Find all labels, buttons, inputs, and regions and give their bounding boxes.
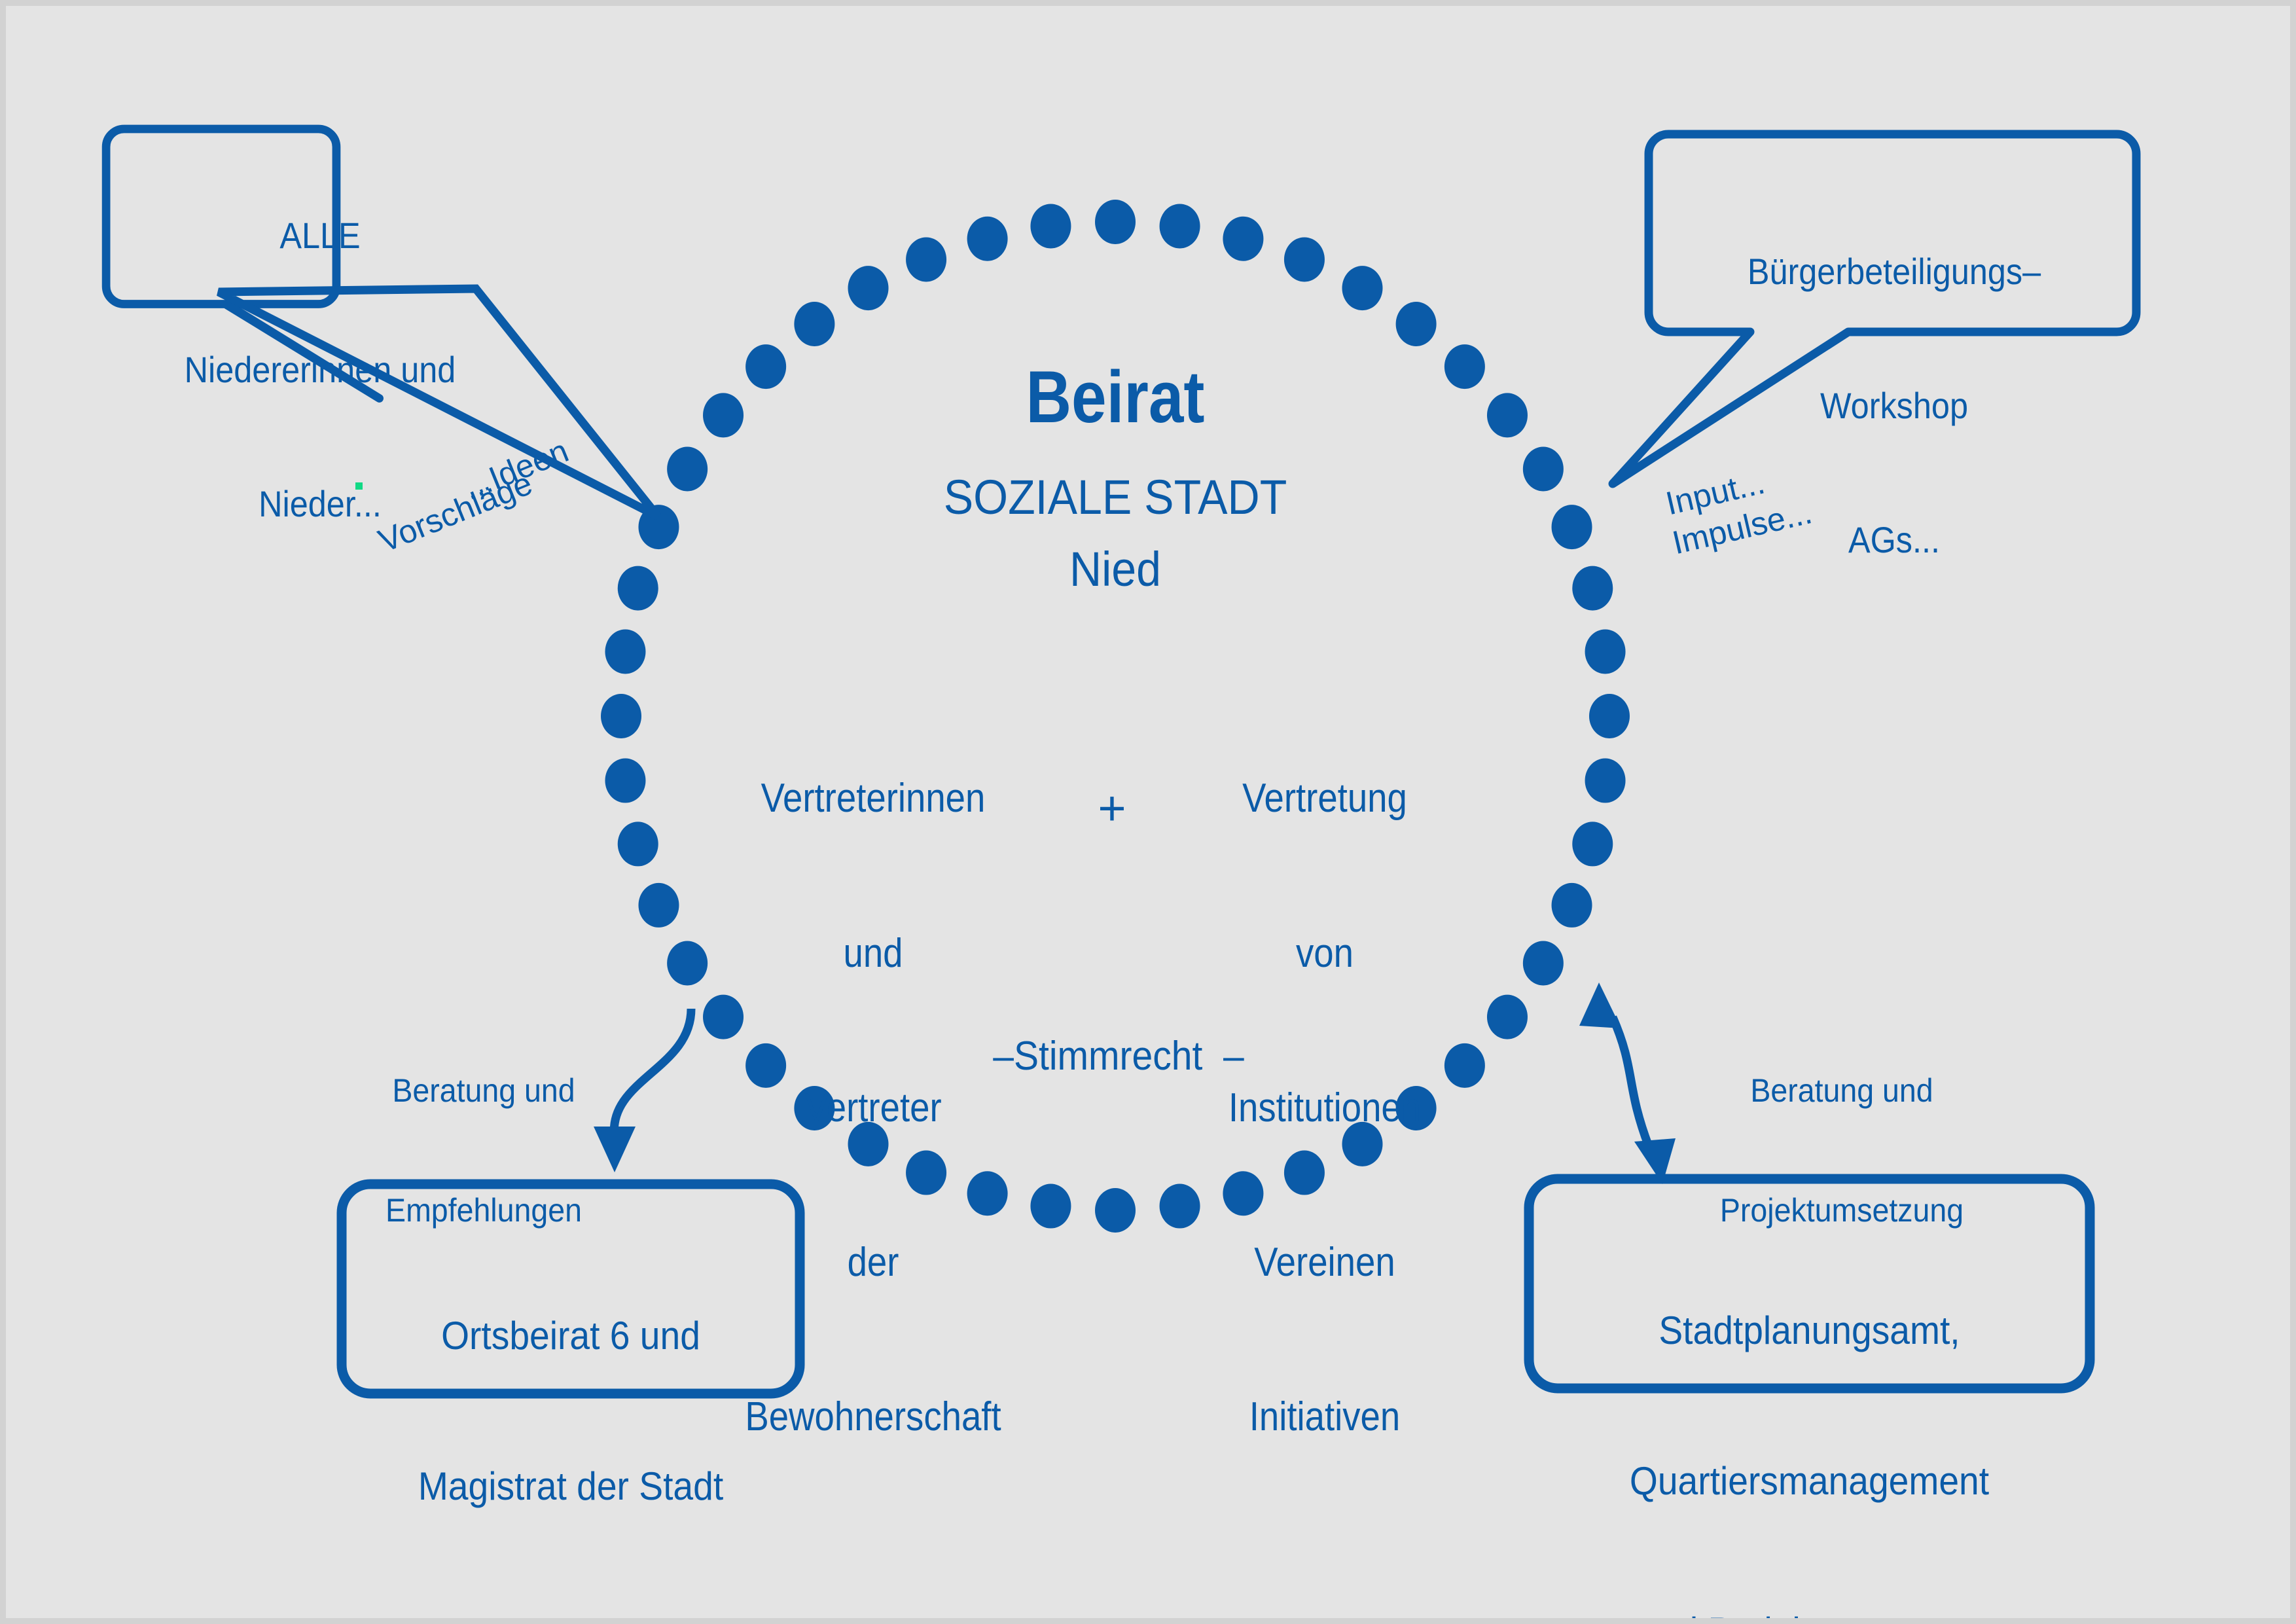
speech-bubble-top-left-text: ALLE Niedererinnen und Nieder... [120, 124, 520, 615]
box-br-line-3: und Projektsteuerung [1557, 1607, 2061, 1618]
speech-bubble-top-right-text: Bürgerbeteiligungs– Workshop AGs... [1676, 160, 2112, 651]
ring-dot [794, 302, 834, 346]
box-bl-line-1: Ortsbeirat 6 und [366, 1311, 776, 1362]
screenshot-frame: ALLE Niedererinnen und Nieder... Bürgerb… [0, 0, 2296, 1624]
right-col-line-2: von [1187, 928, 1463, 980]
annot-left-line-1: Beratung und [356, 1071, 612, 1111]
ring-dot [848, 266, 889, 310]
ring-dot [1585, 629, 1626, 674]
bubble-tl-line-1: ALLE [120, 213, 520, 258]
ring-dot [1552, 883, 1592, 928]
center-footnote: –Stimmrecht – [932, 1034, 1305, 1079]
ring-dot [605, 629, 645, 674]
box-bl-line-2: Magistrat der Stadt [366, 1462, 776, 1512]
box-br-line-1: Stadtplanungsamt, [1557, 1306, 2061, 1356]
ring-dot [667, 447, 708, 492]
box-bottom-left-text: Ortsbeirat 6 und Magistrat der Stadt Fra… [366, 1210, 776, 1618]
center-title: Beirat [862, 356, 1369, 438]
right-col-line-4: Vereinen [1187, 1237, 1463, 1289]
arrow-beratung-projektumsetzung [1579, 983, 1676, 1184]
right-col-line-5: Initiativen [1187, 1392, 1463, 1443]
ring-dot [1487, 393, 1528, 437]
ring-dot [967, 217, 1008, 261]
ring-dot [618, 566, 658, 611]
ring-dot [1342, 266, 1383, 310]
center-subtitle-line-2: Nied [844, 543, 1386, 597]
bubble-tr-line-1: Bürgerbeteiligungs– [1676, 249, 2112, 294]
ring-dot [1095, 200, 1136, 244]
ring-dot [1396, 302, 1437, 346]
center-right-column: Vertretung von Institutionen Vereinen In… [1187, 670, 1463, 1546]
left-col-line-2: und [726, 928, 1020, 980]
ring-dot [1552, 505, 1592, 549]
ring-dot [1160, 204, 1200, 248]
ring-dot [906, 237, 946, 281]
ring-dot [1030, 1184, 1071, 1229]
ring-dot [703, 393, 744, 437]
green-marker-dot [355, 482, 363, 490]
annot-right-line-1: Beratung und [1690, 1071, 1994, 1111]
ring-dot [745, 344, 786, 389]
ring-dot [1030, 204, 1071, 248]
ring-dot [1095, 1188, 1136, 1233]
left-col-line-3: Vertreter [726, 1083, 1020, 1134]
ring-dot [1487, 995, 1528, 1039]
box-bl-line-3: Frankfurt am Main [366, 1612, 776, 1618]
bubble-tl-line-2: Niedererinnen und [120, 348, 520, 392]
plus-symbol: + [1066, 782, 1158, 836]
ring-dot [1589, 694, 1630, 738]
right-col-line-3: Institutionen [1187, 1083, 1463, 1134]
diagram-canvas: ALLE Niedererinnen und Nieder... Bürgerb… [6, 6, 2290, 1618]
bubble-tr-line-2: Workshop [1676, 384, 2112, 428]
right-col-line-1: Vertretung [1187, 773, 1463, 825]
ring-dot [605, 759, 645, 803]
box-bottom-right-text: Stadtplanungsamt, Quartiersmanagement un… [1557, 1205, 2061, 1618]
ring-dot [1523, 447, 1564, 492]
ring-dot [1572, 821, 1613, 866]
ring-dot [667, 941, 708, 986]
ring-dot [618, 821, 658, 866]
ring-dot [1223, 217, 1263, 261]
ring-dot [1523, 941, 1564, 986]
ring-dot [638, 883, 679, 928]
box-br-line-2: Quartiersmanagement [1557, 1456, 2061, 1507]
ring-dot [601, 694, 641, 738]
left-col-line-1: Vertreterinnen [726, 773, 1020, 825]
ring-dot [1585, 759, 1626, 803]
ring-dot [1444, 344, 1485, 389]
ring-dot [1572, 566, 1613, 611]
center-subtitle-line-1: SOZIALE STADT [844, 471, 1386, 525]
ring-dot [1284, 237, 1325, 281]
